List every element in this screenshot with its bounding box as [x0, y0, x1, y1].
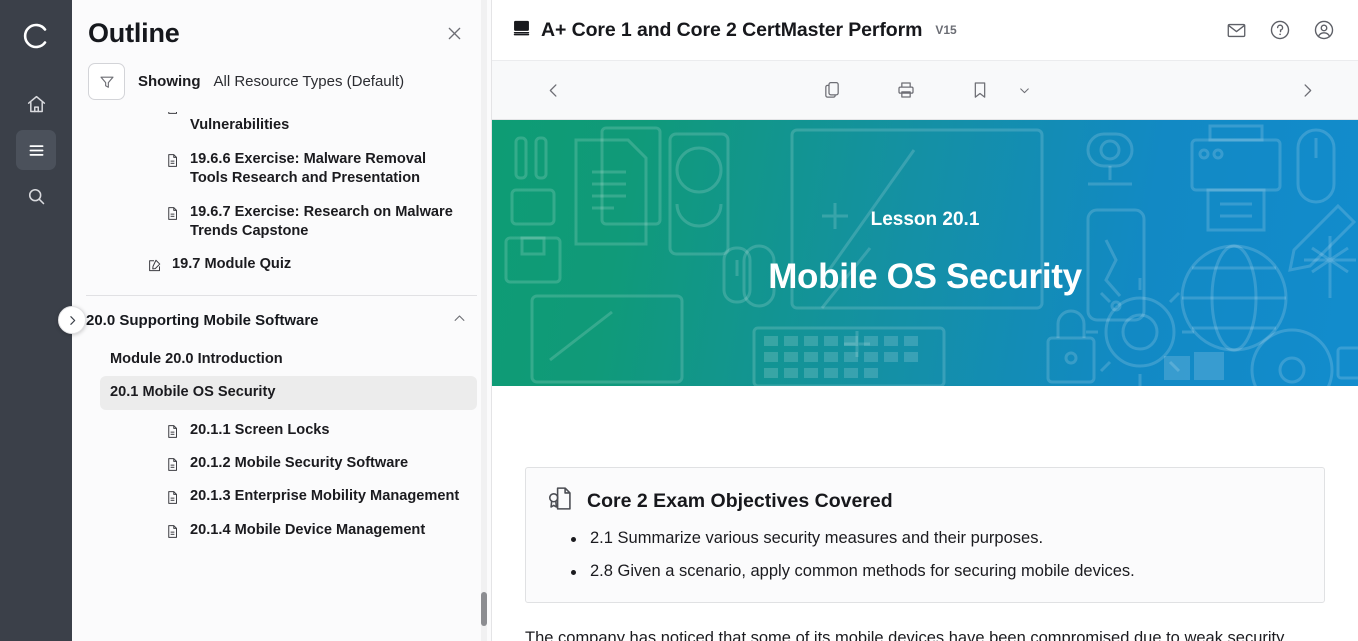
circular-c-logo[interactable] — [14, 14, 58, 58]
list-item-label: 20.1.2 Mobile Security Software — [190, 454, 408, 473]
toolbar-center-actions — [492, 73, 1358, 107]
chevron-down-icon[interactable] — [1013, 79, 1035, 101]
module-label: 20.0 Supporting Mobile Software — [86, 312, 319, 329]
section-divider — [86, 295, 477, 296]
filter-funnel-icon[interactable] — [88, 63, 125, 100]
document-icon — [164, 424, 181, 439]
exam-objectives-header: Core 2 Exam Objectives Covered — [546, 484, 1304, 518]
course-version: V15 — [935, 23, 956, 37]
list-item-label: 20.1.4 Mobile Device Management — [190, 521, 425, 540]
home-icon[interactable] — [16, 84, 56, 124]
list-item-lesson-20-1[interactable]: 20.1 Mobile OS Security — [100, 376, 477, 409]
showing-label: Showing — [138, 73, 201, 90]
outline-scrollbar[interactable] — [481, 0, 487, 641]
chevron-right-icon[interactable] — [1284, 67, 1330, 113]
hero-lesson-number: Lesson 20.1 — [871, 209, 980, 231]
icon-rail — [0, 0, 72, 641]
list-item[interactable]: 19.6.6 Exercise: Malware Removal Tools R… — [154, 143, 477, 196]
copy-icon[interactable] — [815, 73, 849, 107]
hero-tech-pattern — [492, 120, 1358, 386]
document-icon — [164, 153, 181, 168]
exam-objectives-title: Core 2 Exam Objectives Covered — [587, 490, 893, 513]
list-item[interactable]: 20.1.4 Mobile Device Management — [154, 514, 477, 547]
document-icon — [164, 457, 181, 472]
sidebar-collapse-toggle[interactable] — [58, 306, 86, 334]
list-item-module-intro[interactable]: Module 20.0 Introduction — [100, 343, 477, 376]
account-circle-icon[interactable] — [1310, 16, 1338, 44]
document-toolbar — [492, 60, 1358, 120]
list-item[interactable]: 20.1.3 Enterprise Mobility Management — [154, 480, 477, 513]
list-item-label: 20.1 Mobile OS Security — [110, 383, 275, 402]
chevron-up-icon[interactable] — [452, 311, 467, 331]
outline-panel: Outline Showing All Resource Types (Defa… — [72, 0, 492, 641]
outline-header: Outline — [72, 0, 491, 53]
course-title-group: A+ Core 1 and Core 2 CertMaster Perform … — [512, 18, 957, 42]
exam-objectives-list: 2.1 Summarize various security measures … — [546, 527, 1304, 584]
rail-icon-group — [16, 84, 56, 216]
list-item-label: 19.7 Module Quiz — [172, 255, 291, 274]
document-icon — [164, 112, 181, 115]
exam-objectives-card: Core 2 Exam Objectives Covered 2.1 Summa… — [525, 467, 1325, 603]
bookmark-icon[interactable] — [963, 73, 997, 107]
showing-value[interactable]: All Resource Types (Default) — [214, 73, 405, 90]
help-circle-icon[interactable] — [1266, 16, 1294, 44]
lesson-hero-banner: Lesson 20.1 Mobile OS Security — [492, 120, 1358, 386]
mail-icon[interactable] — [1222, 16, 1250, 44]
outline-scrollbar-thumb[interactable] — [481, 592, 487, 626]
list-item: 2.8 Given a scenario, apply common metho… — [568, 560, 1304, 584]
list-item: 2.1 Summarize various security measures … — [568, 527, 1304, 551]
menu-icon[interactable] — [16, 130, 56, 170]
page-title: Outline — [88, 18, 180, 49]
list-item-label: 19.6.5 Exercise: Research on Browser Vul… — [190, 112, 467, 136]
outline-scroll-area: 19.6.5 Exercise: Research on Browser Vul… — [72, 112, 491, 641]
print-icon[interactable] — [889, 73, 923, 107]
list-item[interactable]: 19.6.5 Exercise: Research on Browser Vul… — [154, 112, 477, 143]
chevron-left-icon[interactable] — [530, 67, 576, 113]
list-item-label: 20.1.1 Screen Locks — [190, 421, 330, 440]
list-item-module-quiz[interactable]: 19.7 Module Quiz — [136, 248, 477, 281]
document-icon — [164, 490, 181, 505]
top-actions — [1222, 16, 1338, 44]
list-item[interactable]: 20.1.2 Mobile Security Software — [154, 447, 477, 480]
certificate-document-icon — [546, 484, 575, 518]
monitor-icon — [512, 18, 531, 42]
quiz-pencil-icon — [146, 258, 163, 273]
document-icon — [164, 206, 181, 221]
list-item-label: Module 20.0 Introduction — [110, 350, 283, 369]
list-item-label: 19.6.6 Exercise: Malware Removal Tools R… — [190, 150, 467, 189]
document-icon — [164, 524, 181, 539]
lesson-intro-paragraph: The company has noticed that some of its… — [525, 626, 1325, 641]
app-root: Outline Showing All Resource Types (Defa… — [0, 0, 1358, 641]
list-item-label: 19.6.7 Exercise: Research on Malware Tre… — [190, 203, 467, 242]
lesson-document: Core 2 Exam Objectives Covered 2.1 Summa… — [492, 386, 1358, 641]
course-title: A+ Core 1 and Core 2 CertMaster Perform — [541, 19, 922, 42]
hero-lesson-title: Mobile OS Security — [768, 257, 1082, 297]
search-icon[interactable] — [16, 176, 56, 216]
filter-row: Showing All Resource Types (Default) — [72, 53, 491, 112]
main-content: A+ Core 1 and Core 2 CertMaster Perform … — [492, 0, 1358, 641]
list-item-label: 20.1.3 Enterprise Mobility Management — [190, 487, 459, 506]
top-bar: A+ Core 1 and Core 2 CertMaster Perform … — [492, 0, 1358, 60]
module-header-20-0[interactable]: 20.0 Supporting Mobile Software — [86, 305, 477, 337]
list-item[interactable]: 20.1.1 Screen Locks — [154, 414, 477, 447]
list-item[interactable]: 19.6.7 Exercise: Research on Malware Tre… — [154, 196, 477, 249]
close-icon[interactable] — [439, 19, 469, 49]
